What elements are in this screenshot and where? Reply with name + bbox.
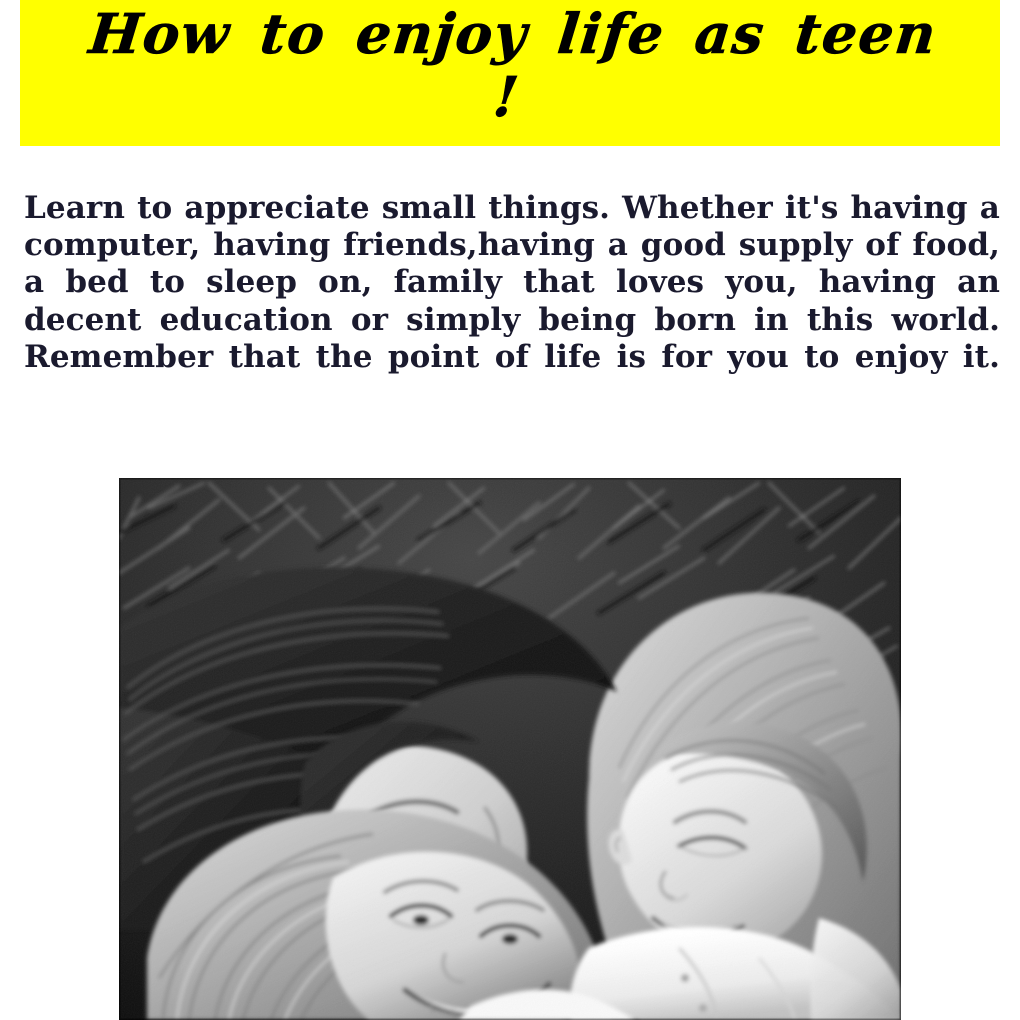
poster-page: How to enjoy life as teen ! Learn to app… <box>0 0 1020 1020</box>
photo-three-girls <box>119 478 901 1020</box>
title-banner: How to enjoy life as teen ! <box>20 0 1000 146</box>
page-title: How to enjoy life as teen ! <box>13 2 1006 128</box>
body-paragraph: Learn to appreciate small things. Whethe… <box>24 190 1000 413</box>
photo-illustration <box>119 478 901 1020</box>
